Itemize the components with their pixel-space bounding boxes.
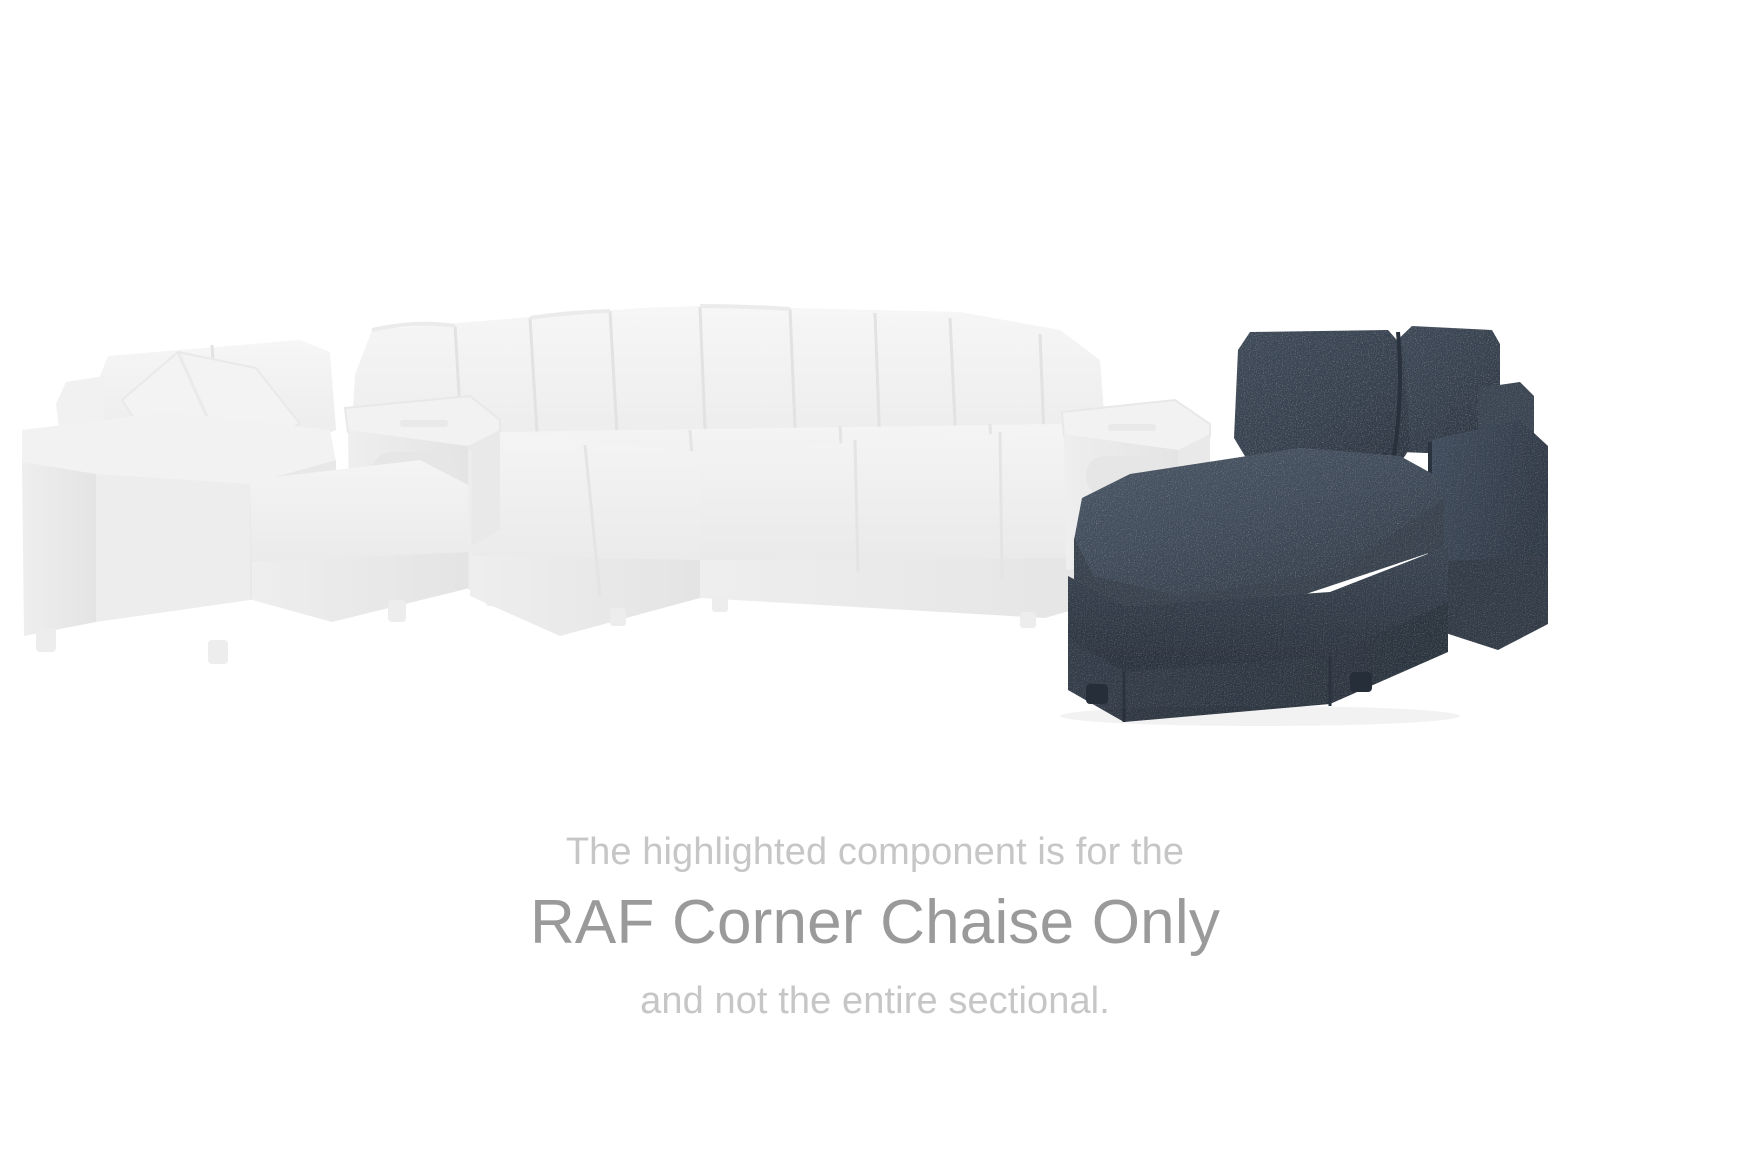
ghosted-sectional-group: [22, 306, 1210, 664]
raf-corner-chaise-highlighted: [1060, 326, 1548, 726]
product-component-callout-image: The highlighted component is for the RAF…: [0, 0, 1750, 1167]
caption-intro-line: The highlighted component is for the: [0, 830, 1750, 875]
caption-component-name: RAF Corner Chaise Only: [0, 889, 1750, 957]
caption-disclaimer-line: and not the entire sectional.: [0, 979, 1750, 1024]
component-callout-caption: The highlighted component is for the RAF…: [0, 830, 1750, 1024]
sectional-illustration: [0, 0, 1750, 830]
